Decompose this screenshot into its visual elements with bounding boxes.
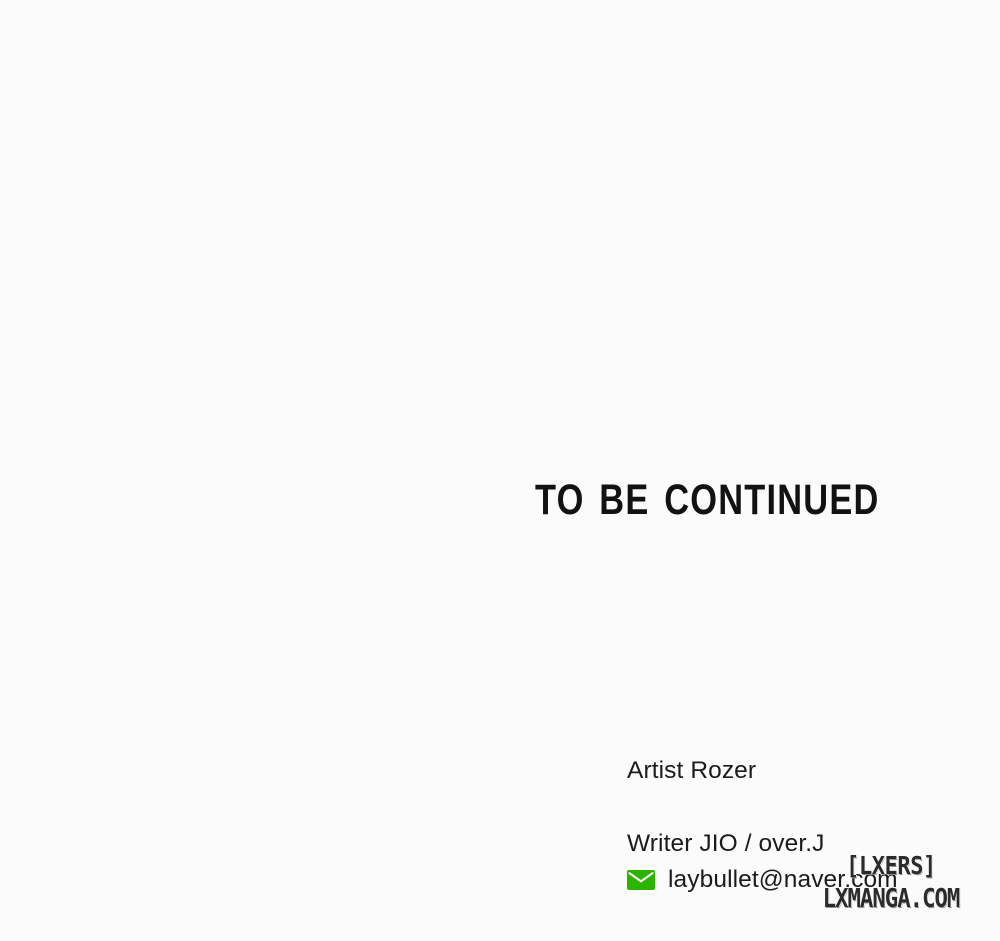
to-be-continued-block: To be continued — [535, 463, 970, 541]
mail-envelope-icon — [627, 870, 655, 890]
artist-credit: Artist Rozer — [627, 757, 756, 785]
to-be-continued-text: To be continued — [535, 463, 883, 524]
writer-credit: Writer JIO / over.J — [627, 830, 824, 858]
contact-email-row[interactable]: laybullet@naver.com — [627, 866, 898, 894]
contact-email-text: laybullet@naver.com — [668, 866, 898, 894]
comic-end-page: To be continued Artist Rozer Writer JIO … — [0, 0, 1000, 941]
